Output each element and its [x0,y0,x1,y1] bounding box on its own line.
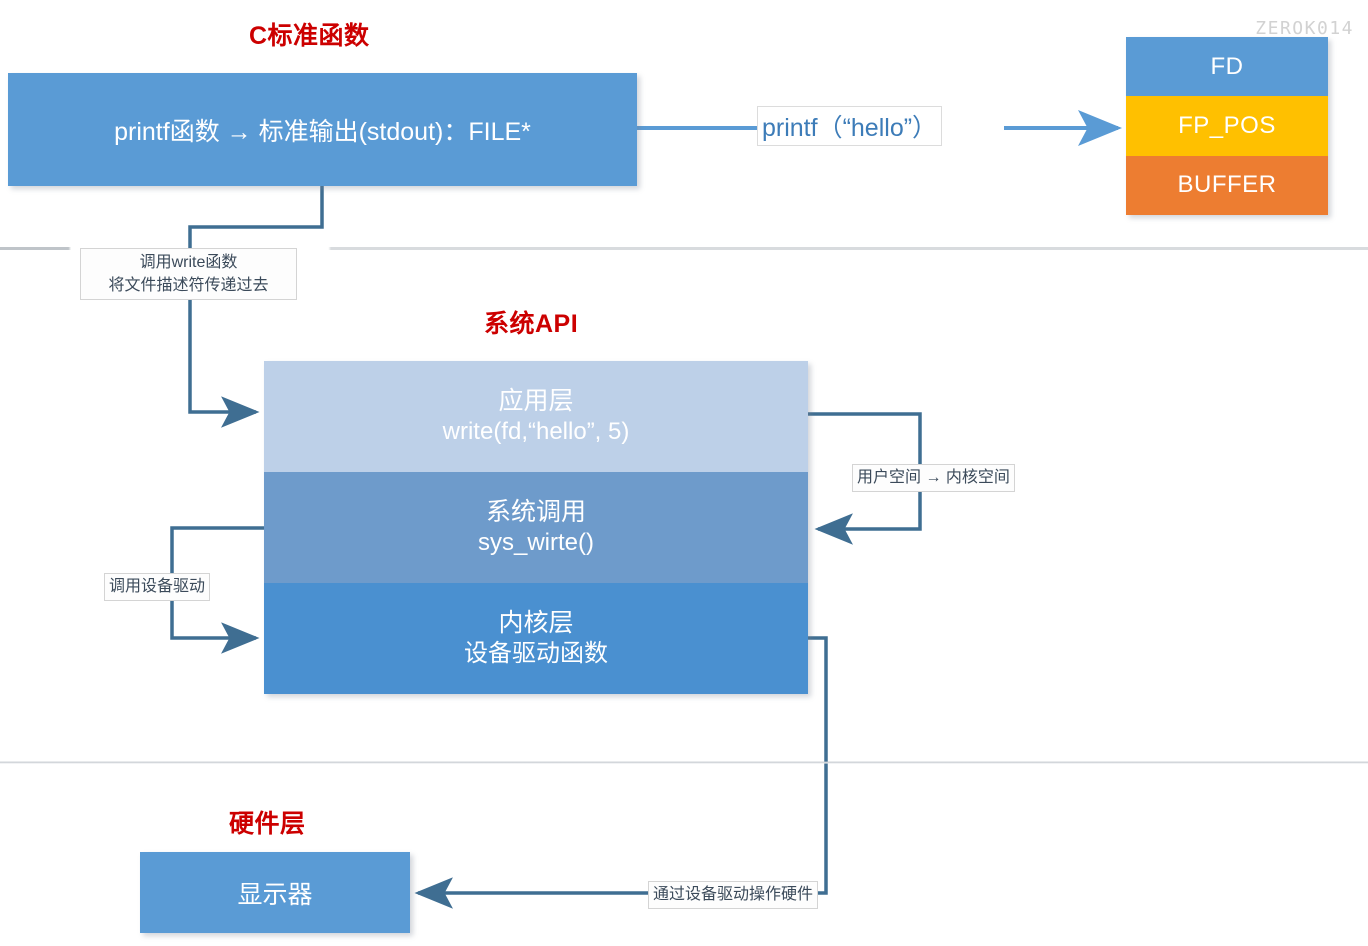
monitor-box[interactable]: 显示器 [140,852,410,933]
annotation-write-call-line2: 将文件描述符传递过去 [85,274,292,297]
api-layer-kernel: 内核层 设备驱动函数 [264,583,808,694]
divider-hardware [0,761,1368,764]
watermark: ZEROK014 [1255,18,1354,39]
system-api-stack[interactable]: 应用层 write(fd,“hello”, 5) 系统调用 sys_wirte(… [264,361,808,694]
api-layer-syscall: 系统调用 sys_wirte() [264,472,808,583]
printf-function-box[interactable]: printf函数 → 标准输出(stdout)：FILE* [8,73,637,186]
annotation-write-call: 调用write函数 将文件描述符传递过去 [80,248,297,300]
annotation-call-device-driver: 调用设备驱动 [104,573,210,601]
file-struct-segment-buffer: BUFFER [1126,156,1328,215]
annotation-write-call-line1: 调用write函数 [85,251,292,274]
section-title-system-api: 系统API [484,304,578,340]
api-layer-kernel-title: 内核层 [498,608,573,639]
annotation-user-to-kernel: 用户空间 → 内核空间 [852,464,1015,492]
api-layer-application-title: 应用层 [498,386,573,417]
monitor-box-label: 显示器 [237,875,312,911]
api-layer-syscall-title: 系统调用 [486,497,586,528]
printf-box-label: printf函数 → 标准输出(stdout)：FILE* [114,112,531,148]
api-layer-application: 应用层 write(fd,“hello”, 5) [264,361,808,472]
file-struct-buffer-label: BUFFER [1178,171,1277,199]
printf-call-label: printf（“hello”） [757,106,942,146]
section-title-hardware: 硬件层 [229,804,306,840]
annotation-drive-hardware: 通过设备驱动操作硬件 [648,881,818,909]
section-title-c-standard: C标准函数 [249,16,370,52]
file-struct-fp-pos-label: FP_POS [1178,112,1276,140]
file-struct-fd-label: FD [1211,53,1244,81]
file-struct-box[interactable]: FD FP_POS BUFFER [1126,37,1328,215]
file-struct-segment-fd: FD [1126,37,1328,96]
file-struct-segment-fp-pos: FP_POS [1126,96,1328,155]
api-layer-application-detail: write(fd,“hello”, 5) [443,417,630,447]
api-layer-syscall-detail: sys_wirte() [478,528,594,558]
api-layer-kernel-detail: 设备驱动函数 [464,639,608,669]
diagram-canvas: ZEROK014 C标准函数 系统API 硬件层 printf函数 → 标准输出… [0,0,1368,946]
